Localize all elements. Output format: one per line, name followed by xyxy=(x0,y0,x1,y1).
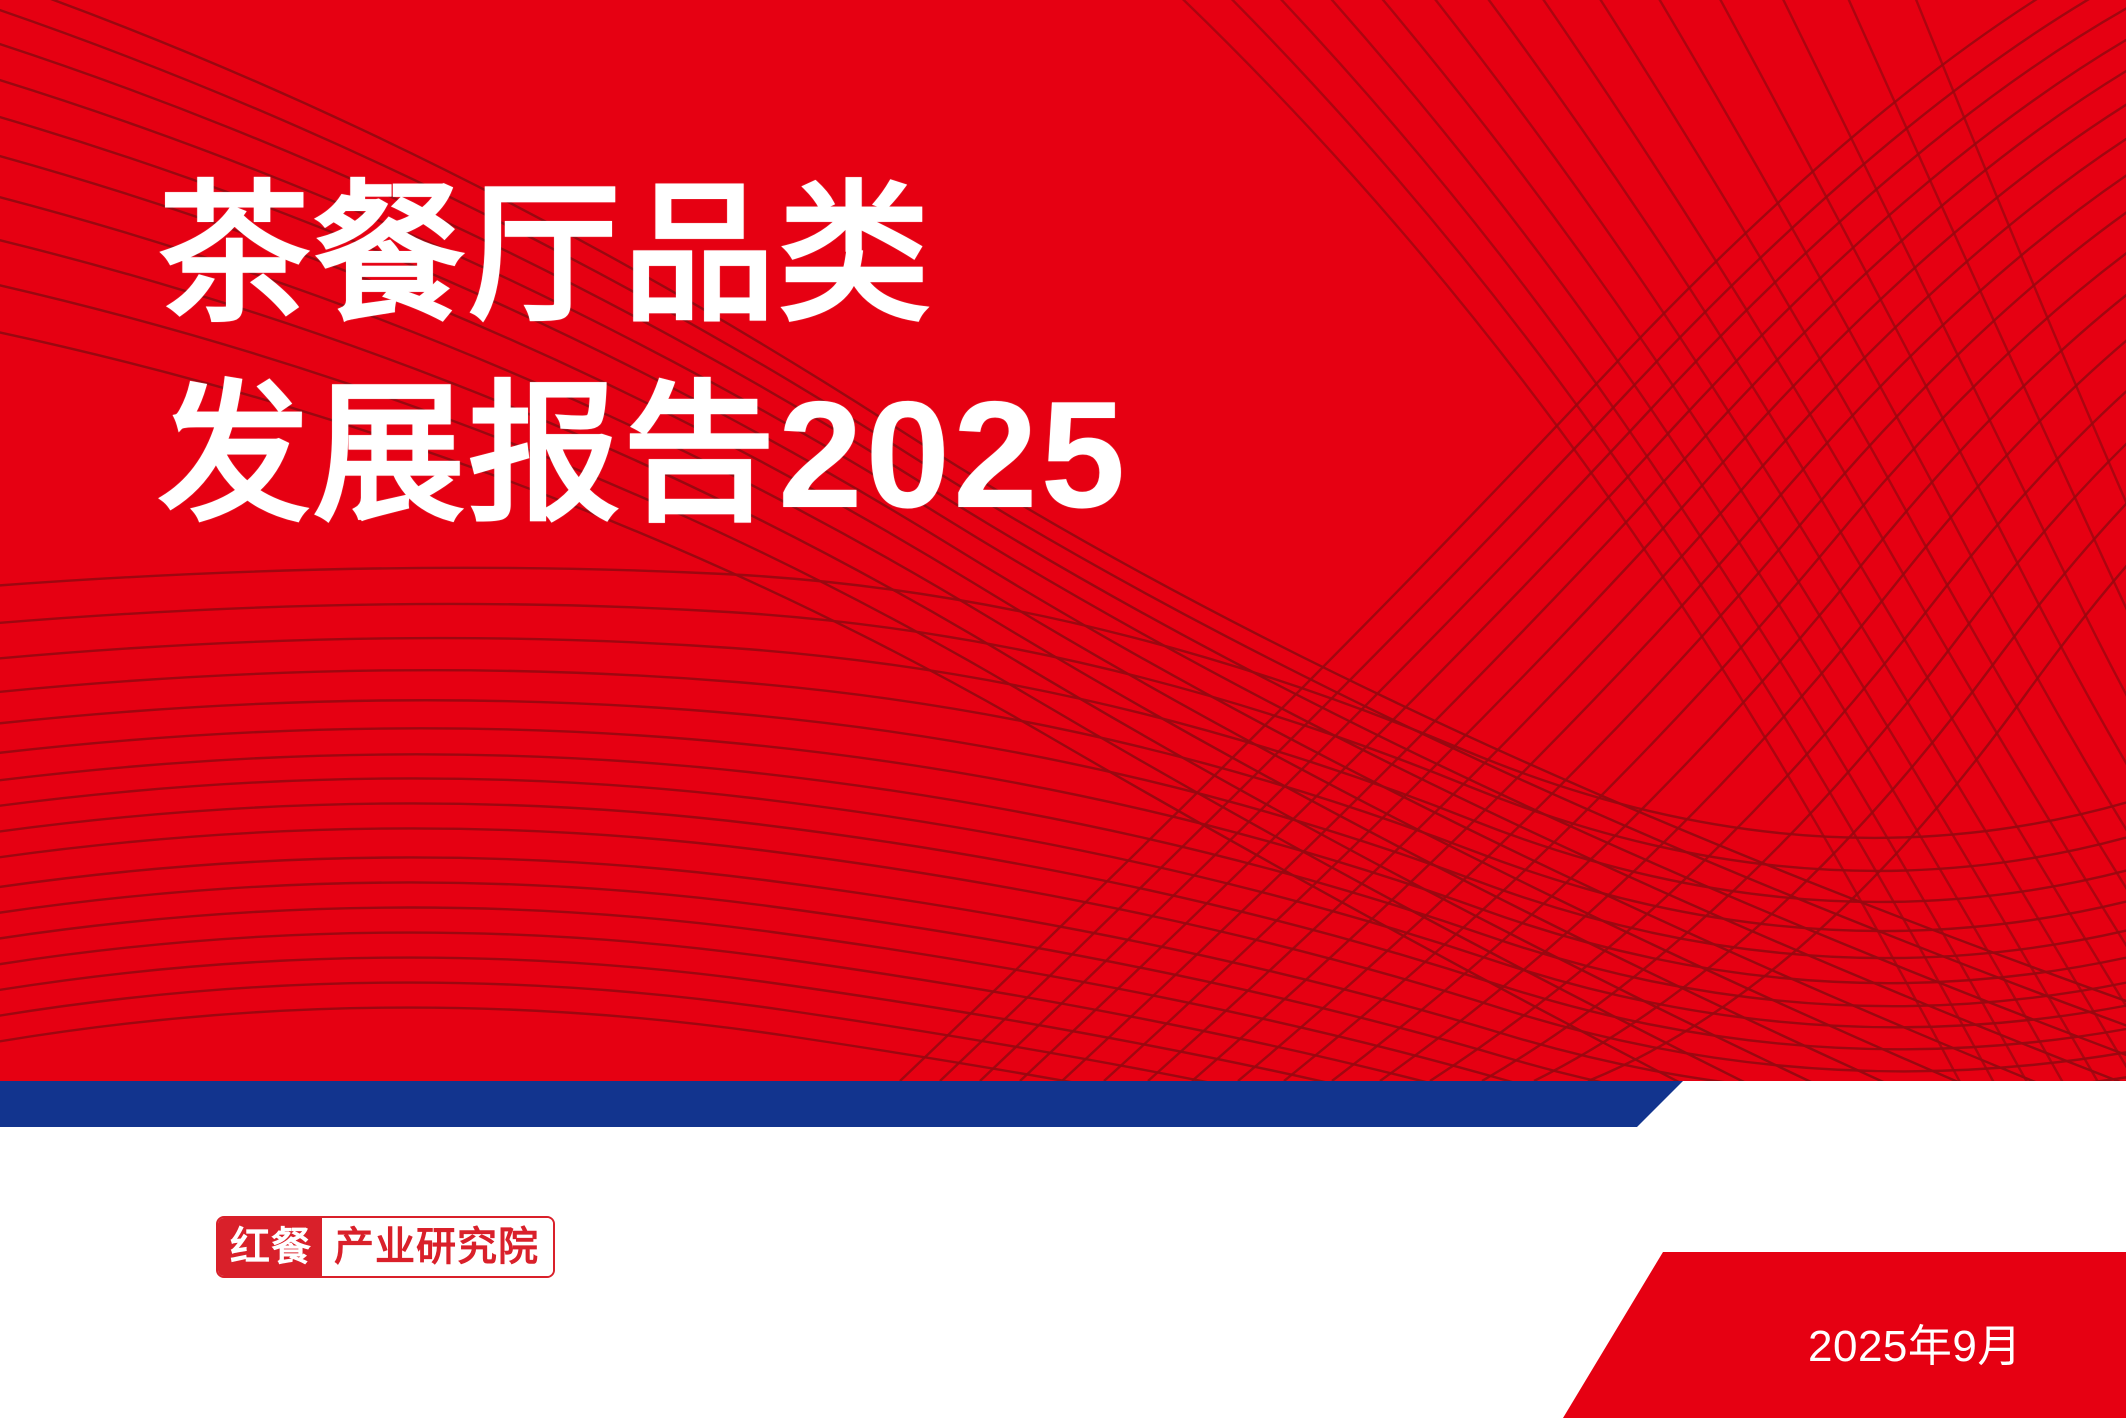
blue-accent-bar xyxy=(0,1081,1683,1127)
publish-date: 2025年9月 xyxy=(1808,1321,2022,1373)
pattern-group-bottom-waves xyxy=(0,568,2126,1081)
brand-logo-name: 产业研究院 xyxy=(322,1218,553,1276)
title-line-2: 发展报告2025 xyxy=(158,362,1128,548)
report-cover-slide: 茶餐厅品类 发展报告2025 红餐 产业研究院 2025年9月 xyxy=(0,0,2126,1418)
cover-title: 茶餐厅品类 发展报告2025 xyxy=(158,162,1128,548)
hero-red-panel: 茶餐厅品类 发展报告2025 xyxy=(0,0,2126,1081)
title-line-1: 茶餐厅品类 xyxy=(158,162,1128,348)
brand-logo: 红餐 产业研究院 xyxy=(216,1216,555,1278)
brand-logo-mark: 红餐 xyxy=(218,1218,322,1276)
blue-accent-bar-wrapper xyxy=(0,1081,2126,1127)
